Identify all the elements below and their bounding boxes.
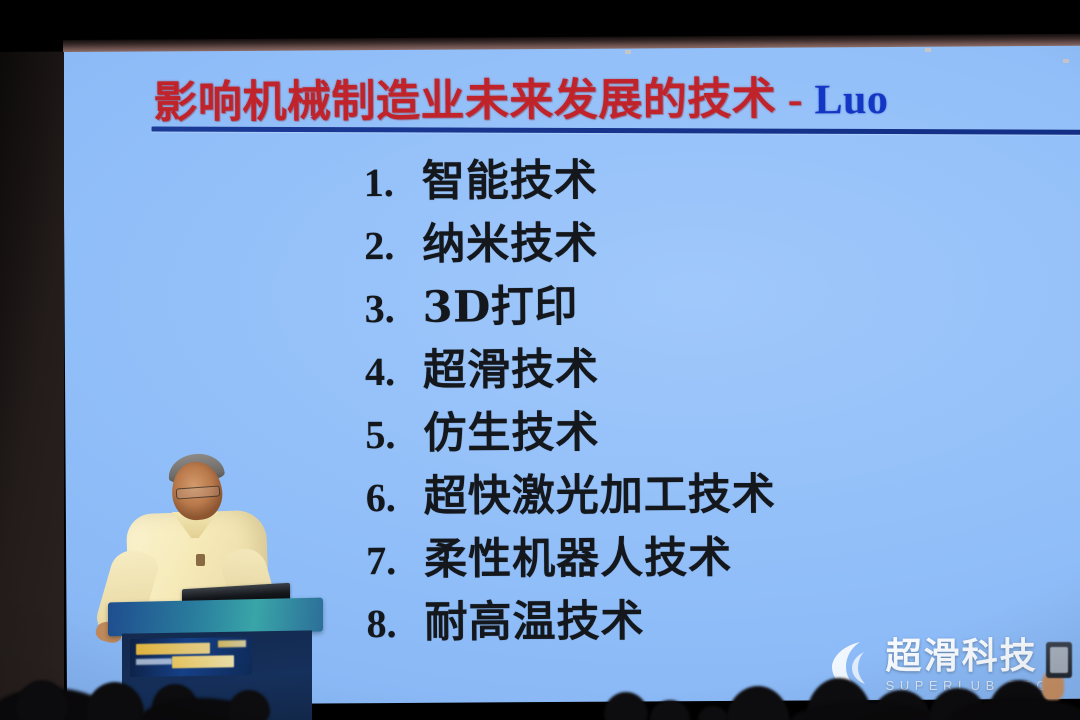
list-item-label: 智能技术 bbox=[422, 146, 598, 209]
list-item-label: 纳米技术 bbox=[422, 209, 598, 272]
list-item-number: 4. bbox=[365, 348, 423, 395]
list-item-label: 超滑技术 bbox=[423, 335, 599, 398]
slide-title-author: Luo bbox=[814, 77, 888, 123]
list-item: 3. 3D打印 bbox=[364, 269, 1064, 336]
speaker-badge bbox=[196, 554, 205, 566]
bezel-highlight-speck bbox=[925, 48, 931, 52]
auditorium-left-wall bbox=[0, 0, 64, 720]
list-item-label: 柔性机器人技术 bbox=[424, 523, 732, 587]
banner-headline-stroke bbox=[136, 643, 210, 655]
list-item: 2. 纳米技术 bbox=[364, 206, 1064, 273]
photo-of-conference-presentation: 影响机械制造业未来发展的技术 - Luo 1. 智能技术 2. 纳米技术 3. … bbox=[0, 0, 1080, 720]
slide-title-separator: - bbox=[776, 74, 814, 123]
list-item-number: 5. bbox=[365, 411, 423, 458]
list-item-number: 6. bbox=[366, 474, 424, 521]
banner-accent-stroke bbox=[218, 640, 246, 647]
banner-caption-stroke bbox=[136, 658, 172, 665]
numbered-technology-list: 1. 智能技术 2. 纳米技术 3. 3D打印 4. 超滑技术 5. 仿生技术 … bbox=[364, 143, 1067, 651]
list-item-label: 耐高温技术 bbox=[424, 586, 644, 649]
list-item-number: 2. bbox=[364, 222, 422, 269]
list-item: 5. 仿生技术 bbox=[365, 395, 1065, 462]
list-item-number: 8. bbox=[366, 600, 424, 647]
audience-shoulder bbox=[790, 702, 940, 720]
list-item-label: 仿生技术 bbox=[423, 398, 599, 461]
list-item-label: 超快激光加工技术 bbox=[424, 460, 776, 524]
audience-head bbox=[650, 700, 690, 720]
watermark-brand-en: SUPERLUB TECH bbox=[886, 679, 1066, 692]
podium-banner-graphic bbox=[130, 637, 252, 677]
list-item: 4. 超滑技术 bbox=[365, 332, 1065, 399]
watermark-text: 超滑科技 SUPERLUB TECH bbox=[886, 638, 1066, 692]
audience-head bbox=[698, 706, 728, 720]
list-item: 7. 柔性机器人技术 bbox=[366, 521, 1066, 588]
bezel-highlight-speck bbox=[1063, 59, 1069, 63]
list-item-number: 1. bbox=[364, 159, 422, 206]
banner-subhead-stroke bbox=[172, 655, 234, 668]
speaker-and-podium bbox=[60, 440, 340, 720]
slide-title-chinese: 影响机械制造业未来发展的技术 bbox=[153, 75, 776, 128]
superlub-watermark: 超滑科技 SUPERLUB TECH bbox=[830, 638, 1066, 692]
superlub-crescent-logo-icon bbox=[830, 640, 876, 690]
audience-shoulder bbox=[950, 698, 1080, 720]
list-item: 6. 超快激光加工技术 bbox=[366, 458, 1066, 525]
list-item-label: 3D打印 bbox=[422, 272, 578, 335]
audience-head bbox=[730, 706, 764, 720]
list-item-number: 3. bbox=[364, 285, 422, 332]
title-underline-rule bbox=[152, 126, 1080, 134]
bezel-highlight-speck bbox=[625, 50, 631, 54]
slide-title: 影响机械制造业未来发展的技术 - Luo bbox=[153, 61, 1080, 131]
watermark-brand-cn: 超滑科技 bbox=[886, 638, 1066, 674]
list-item-number: 7. bbox=[366, 537, 424, 584]
list-item: 1. 智能技术 bbox=[364, 143, 1064, 210]
